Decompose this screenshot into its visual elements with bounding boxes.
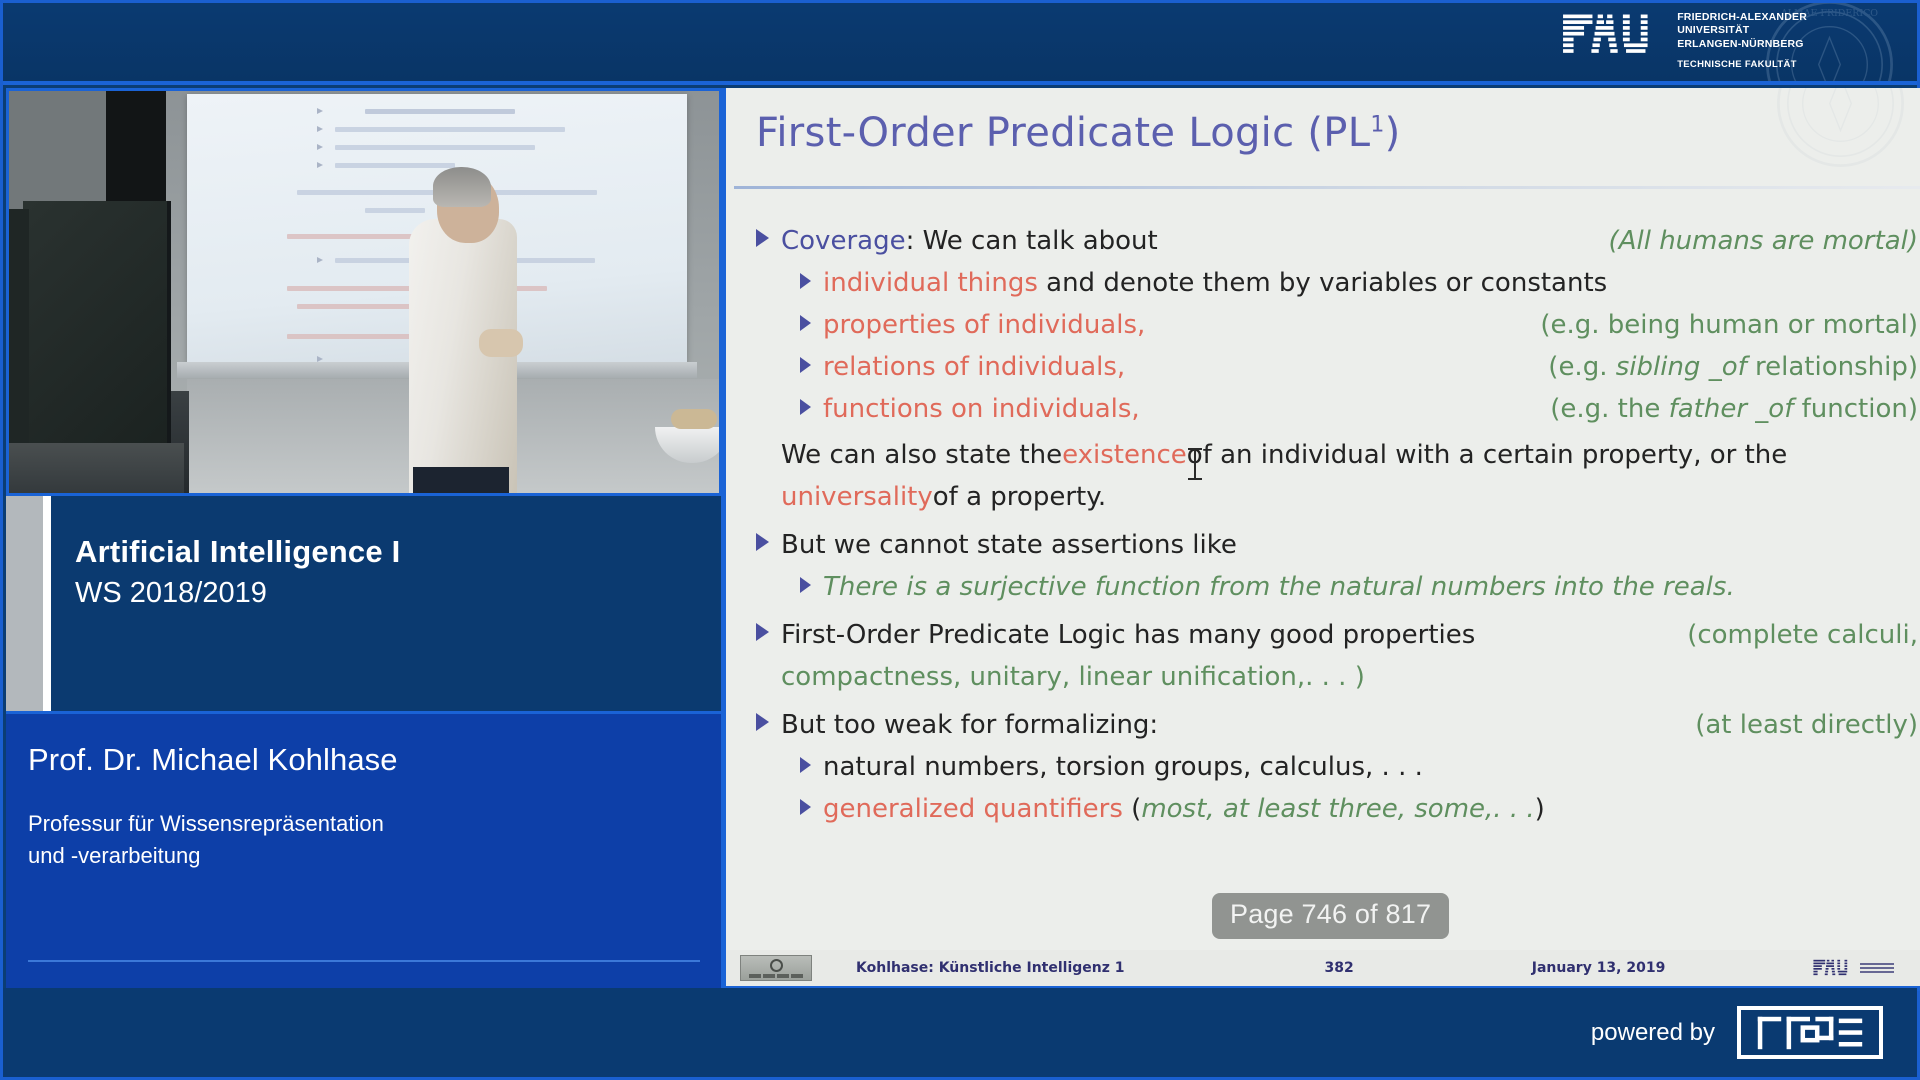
footer-fau-lines-icon — [1860, 963, 1894, 973]
relations-note-post: relationship) — [1747, 352, 1918, 382]
relations-note: (e.g. sibling _of relationship) — [1548, 354, 1918, 380]
natural-numbers-text: natural numbers, torsion groups, calculu… — [823, 754, 1918, 780]
triangle-bullet-icon — [800, 399, 811, 415]
triangle-bullet-icon — [800, 357, 811, 373]
rrze-glyph-icon — [1748, 1015, 1872, 1051]
title-white-bar — [43, 496, 51, 711]
professor-block: Prof. Dr. Michael Kohlhase Professur für… — [6, 711, 722, 996]
nav-dot-icon — [770, 959, 783, 972]
fau-brand-line1: FRIEDRICH-ALEXANDER — [1677, 11, 1807, 24]
video-bread — [671, 409, 717, 429]
too-weak-note: (at least directly) — [1695, 712, 1918, 738]
fau-logo-block: FRIEDRICH-ALEXANDER UNIVERSITÄT ERLANGEN… — [1562, 11, 1807, 71]
bullet-coverage: Coverage: We can talk about (All humans … — [748, 228, 1918, 266]
lecturer-body — [409, 219, 517, 496]
functions-note-pre: (e.g. the — [1550, 394, 1668, 424]
bottom-bar: powered by — [3, 988, 1917, 1077]
triangle-bullet-icon — [800, 315, 811, 331]
lecturer-hair — [433, 167, 491, 207]
bullet-properties: properties of individuals, (e.g. being h… — [748, 312, 1918, 350]
individual-things-text: individual things and denote them by var… — [823, 270, 1918, 296]
functions-note: (e.g. the father _of function) — [1550, 396, 1918, 422]
nav-bars-icon — [749, 974, 803, 978]
properties-note: (e.g. being human or mortal) — [1540, 312, 1918, 338]
fau-brand-text: FRIEDRICH-ALEXANDER UNIVERSITÄT ERLANGEN… — [1677, 11, 1807, 71]
fau-brand-line2: UNIVERSITÄT — [1677, 24, 1807, 37]
page-header: ALMAE FRIDERICO ALEXANDRINAE — [3, 3, 1917, 85]
individual-things-rest: and denote them by variables or constant… — [1038, 268, 1607, 298]
slide-navigation-widget[interactable] — [740, 955, 812, 981]
individual-things-red: individual things — [823, 268, 1038, 298]
slide-body: Coverage: We can talk about (All humans … — [748, 218, 1918, 834]
good-properties-text: First-Order Predicate Logic has many goo… — [781, 622, 1687, 648]
chair-line-2: und -verarbeitung — [28, 840, 698, 872]
universality-post: of a property. — [933, 484, 1106, 510]
triangle-bullet-icon — [756, 713, 769, 731]
course-name: Artificial Intelligence I — [75, 534, 722, 570]
bullet-functions: functions on individuals, (e.g. the fath… — [748, 396, 1918, 434]
bullet-individual-things: individual things and denote them by var… — [748, 270, 1918, 308]
existence-post: of an individual with a certain property… — [1187, 442, 1788, 468]
relations-note-pre: (e.g. — [1548, 352, 1615, 382]
footer-author: Kohlhase: Künstliche Intelligenz 1 — [856, 960, 1125, 976]
text-cursor-ibeam — [1188, 447, 1202, 481]
page-indicator: Page 746 of 817 — [1212, 893, 1449, 939]
functions-red: functions on individuals, — [823, 396, 1550, 422]
slide-panel[interactable]: First-Order Predicate Logic (PL1) Covera… — [721, 88, 1920, 991]
surjective-text: There is a surjective function from the … — [823, 574, 1918, 600]
gq-italic: most, at least three, some,. . . — [1141, 794, 1534, 824]
video-dark-pillar — [106, 91, 166, 213]
properties-red: properties of individuals, — [823, 312, 1540, 338]
gq-post: ) — [1535, 794, 1545, 824]
bullet-coverage-text: Coverage: We can talk about — [781, 228, 1609, 254]
triangle-bullet-icon — [800, 273, 811, 289]
fau-wordmark-icon — [1562, 11, 1667, 59]
existence-pre: We can also state the — [781, 442, 1062, 468]
coverage-rest: : We can talk about — [906, 226, 1158, 256]
relations-note-italic: sibling _of — [1616, 352, 1747, 382]
powered-by-label: powered by — [1591, 1019, 1715, 1047]
coverage-label: Coverage — [781, 226, 906, 256]
title-gray-bar — [6, 496, 43, 711]
professor-divider — [28, 960, 700, 962]
bullet-relations: relations of individuals, (e.g. sibling … — [748, 354, 1918, 392]
course-title-block: Artificial Intelligence I WS 2018/2019 — [6, 496, 722, 711]
app-stage: ALMAE FRIDERICO ALEXANDRINAE — [0, 0, 1920, 1080]
bullet-surjective: There is a surjective function from the … — [748, 574, 1918, 612]
fau-brand-faculty: TECHNISCHE FAKULTÄT — [1677, 59, 1807, 71]
blackboard-secondary — [9, 209, 29, 447]
existence-red: existence — [1062, 442, 1187, 468]
course-term: WS 2018/2019 — [75, 577, 722, 610]
footer-date: January 13, 2019 — [1532, 960, 1666, 976]
video-upper-wall — [9, 91, 106, 213]
generalized-quantifiers-text: generalized quantifiers (most, at least … — [823, 796, 1918, 822]
relations-red: relations of individuals, — [823, 354, 1548, 380]
paragraph-existence-line2: universality of a property. — [748, 484, 1918, 522]
blackboard — [23, 201, 171, 451]
left-column: Artificial Intelligence I WS 2018/2019 P… — [6, 88, 722, 996]
paragraph-existence-line1: We can also state the existence of an in… — [748, 442, 1918, 480]
footer-slide-number: 382 — [1325, 960, 1354, 976]
bullet-natural-numbers: natural numbers, torsion groups, calculu… — [748, 754, 1918, 792]
slide-footer: Kohlhase: Künstliche Intelligenz 1 382 J… — [726, 950, 1920, 986]
title-navy-area: Artificial Intelligence I WS 2018/2019 — [51, 496, 722, 711]
lecturer-arm — [479, 329, 523, 357]
functions-note-post: function) — [1793, 394, 1918, 424]
coverage-note: (All humans are mortal) — [1609, 228, 1918, 254]
triangle-bullet-icon — [756, 229, 769, 247]
triangle-bullet-icon — [800, 799, 811, 815]
professor-chair: Professur für Wissensrepräsentation und … — [28, 808, 698, 872]
triangle-bullet-icon — [800, 577, 811, 593]
slide-title: First-Order Predicate Logic (PL1) — [756, 110, 1886, 180]
footer-fau-logo — [1813, 958, 1894, 978]
good-properties-note-line2: compactness, unitary, linear unification… — [748, 664, 1918, 702]
gq-red: generalized quantifiers — [823, 794, 1123, 824]
bullet-good-properties: First-Order Predicate Logic has many goo… — [748, 622, 1918, 660]
chair-line-1: Professur für Wissensrepräsentation — [28, 808, 698, 840]
lecturer-legs — [413, 467, 509, 496]
universality-red: universality — [781, 484, 933, 510]
gq-pre: ( — [1123, 794, 1141, 824]
too-weak-text: But too weak for formalizing: — [781, 712, 1695, 738]
slide-title-close: ) — [1385, 110, 1401, 156]
fau-wordmark-icon — [1813, 958, 1855, 978]
slide-title-rule — [734, 186, 1920, 189]
triangle-bullet-icon — [756, 533, 769, 551]
cannot-state-text: But we cannot state assertions like — [781, 532, 1918, 558]
good-properties-note: (complete calculi, — [1687, 622, 1918, 648]
bullet-generalized-quantifiers: generalized quantifiers (most, at least … — [748, 796, 1918, 834]
slide-title-main: First-Order Predicate Logic (PL — [756, 110, 1370, 156]
slide-title-superscript: 1 — [1370, 113, 1384, 138]
triangle-bullet-icon — [800, 757, 811, 773]
bullet-cannot-state: But we cannot state assertions like — [748, 532, 1918, 570]
good-properties-note2: compactness, unitary, linear unification… — [781, 664, 1365, 690]
lecture-video-panel[interactable] — [6, 88, 722, 496]
triangle-bullet-icon — [756, 623, 769, 641]
blackboard-frame — [9, 443, 184, 496]
bullet-too-weak: But too weak for formalizing: (at least … — [748, 712, 1918, 750]
functions-note-italic: father _of — [1669, 394, 1794, 424]
fau-brand-line3: ERLANGEN-NÜRNBERG — [1677, 38, 1807, 51]
rrze-logo-icon[interactable] — [1737, 1006, 1883, 1059]
professor-name: Prof. Dr. Michael Kohlhase — [28, 742, 698, 778]
